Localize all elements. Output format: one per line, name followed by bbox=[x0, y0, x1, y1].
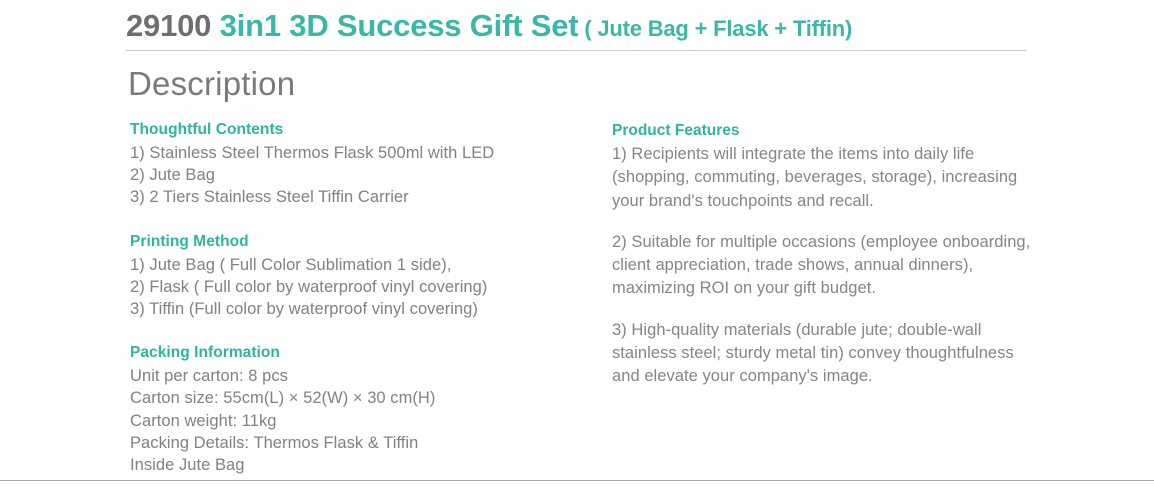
list-item: Carton size: 55cm(L) × 52(W) × 30 cm(H) bbox=[130, 387, 600, 409]
right-column: Product Features 1) Recipients will inte… bbox=[612, 119, 1032, 389]
list-item: Packing Details: Thermos Flask & Tiffin bbox=[130, 432, 600, 454]
section-heading: Packing Information bbox=[130, 342, 600, 364]
footer-divider bbox=[0, 480, 1154, 481]
product-description-page: 29100 3in1 3D Success Gift Set ( Jute Ba… bbox=[0, 0, 1154, 500]
feature-paragraph: 3) High-quality materials (durable jute;… bbox=[612, 319, 1032, 389]
product-title: 29100 3in1 3D Success Gift Set ( Jute Ba… bbox=[126, 9, 1028, 49]
section-heading: Thoughtful Contents bbox=[130, 119, 600, 141]
list-item: 2) Flask ( Full color by waterproof viny… bbox=[130, 276, 600, 298]
page-title: Description bbox=[128, 64, 295, 104]
product-title-line: 29100 3in1 3D Success Gift Set ( Jute Ba… bbox=[126, 9, 1028, 49]
title-space bbox=[211, 8, 219, 43]
left-column: Thoughtful Contents 1) Stainless Steel T… bbox=[130, 119, 600, 476]
title-divider bbox=[126, 50, 1027, 51]
section-heading-product-features: Product Features bbox=[612, 119, 1032, 142]
list-item: 2) Jute Bag bbox=[130, 164, 600, 186]
product-name-parenthetical: ( Jute Bag + Flask + Tiffin) bbox=[584, 16, 852, 41]
section-heading: Printing Method bbox=[130, 231, 600, 253]
list-item: Inside Jute Bag bbox=[130, 454, 600, 476]
list-item: 3) Tiffin (Full color by waterproof viny… bbox=[130, 298, 600, 320]
product-name: 3in1 3D Success Gift Set bbox=[220, 8, 579, 43]
section-printing-method: Printing Method 1) Jute Bag ( Full Color… bbox=[130, 231, 600, 321]
section-packing-information: Packing Information Unit per carton: 8 p… bbox=[130, 342, 600, 476]
list-item: 1) Stainless Steel Thermos Flask 500ml w… bbox=[130, 142, 600, 164]
product-code: 29100 bbox=[126, 8, 211, 43]
list-item: Unit per carton: 8 pcs bbox=[130, 365, 600, 387]
feature-paragraph: 1) Recipients will integrate the items i… bbox=[612, 143, 1032, 213]
section-thoughtful-contents: Thoughtful Contents 1) Stainless Steel T… bbox=[130, 119, 600, 209]
feature-paragraph: 2) Suitable for multiple occasions (empl… bbox=[612, 231, 1032, 301]
list-item: 1) Jute Bag ( Full Color Sublimation 1 s… bbox=[130, 254, 600, 276]
list-item: Carton weight: 11kg bbox=[130, 410, 600, 432]
list-item: 3) 2 Tiers Stainless Steel Tiffin Carrie… bbox=[130, 186, 600, 208]
